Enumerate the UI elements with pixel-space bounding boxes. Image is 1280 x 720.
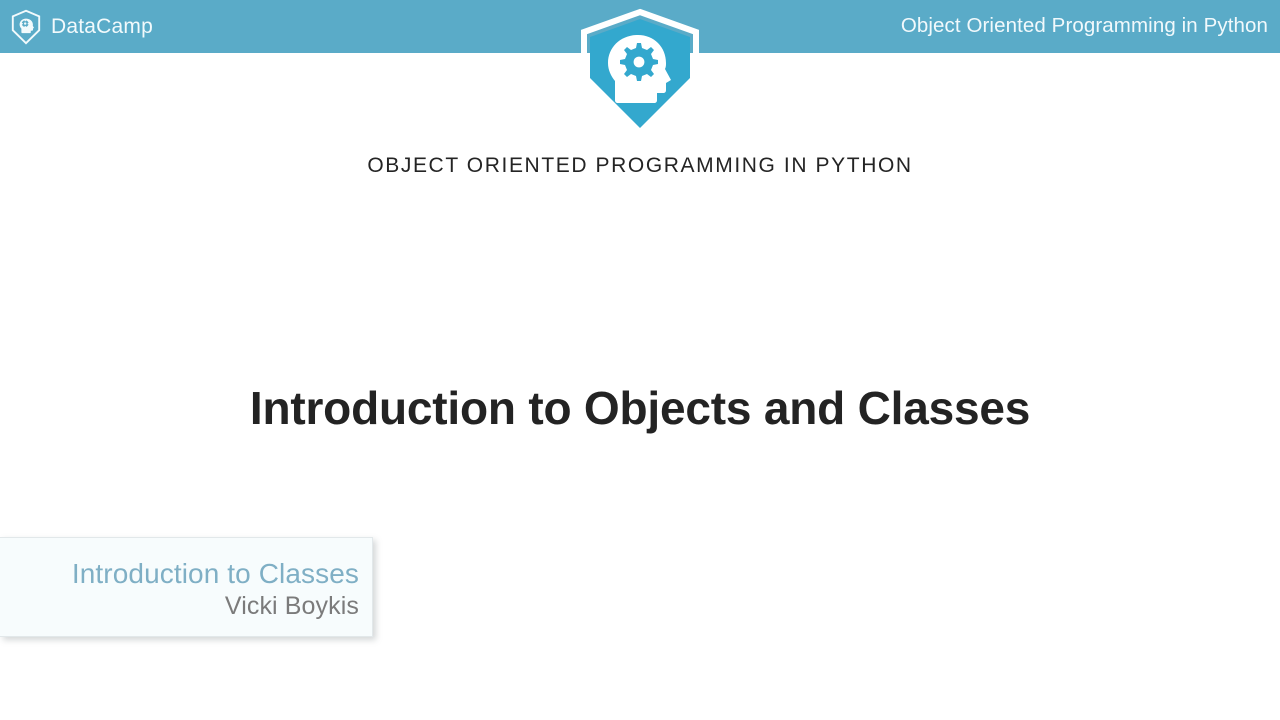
chapter-label: Introduction to Classes [72,557,359,591]
brand-link[interactable]: DataCamp [0,0,153,53]
presenter-name: Vicki Boykis [225,591,359,621]
speaker-card: Introduction to Classes Vicki Boykis [0,537,373,637]
course-title-header: Object Oriented Programming in Python [901,16,1280,37]
brand-label: DataCamp [51,16,153,37]
datacamp-shield-brain-icon [10,9,42,45]
shield-head-gear-icon [575,8,705,140]
course-subtitle: OBJECT ORIENTED PROGRAMMING IN PYTHON [0,154,1280,178]
page-title: Introduction to Objects and Classes [240,378,1040,439]
